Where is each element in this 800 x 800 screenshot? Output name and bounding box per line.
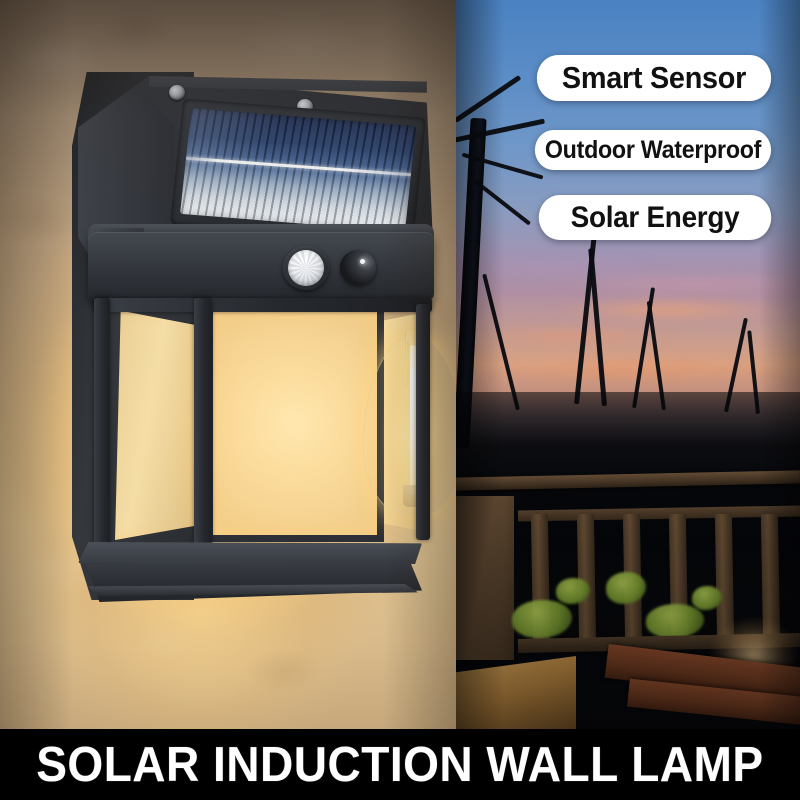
sensor-bar: [88, 232, 434, 300]
lantern-frame-post-middle: [194, 298, 212, 546]
solar-panel-cells: [180, 108, 416, 232]
screw-icon: [169, 85, 185, 100]
solar-wall-lamp: [72, 72, 440, 602]
edison-filament-bulb: [363, 335, 456, 517]
feature-badge-label: Smart Sensor: [562, 60, 746, 96]
solar-panel-glare: [180, 108, 416, 232]
solar-panel: [170, 98, 426, 243]
product-advertisement-image: Smart Sensor Outdoor Waterproof Solar En…: [0, 0, 800, 800]
pir-fresnel-dome: [288, 250, 324, 286]
feature-badge-smart-sensor[interactable]: Smart Sensor: [537, 55, 771, 101]
pir-motion-sensor: [283, 246, 329, 290]
feature-badge-label: Outdoor Waterproof: [545, 136, 761, 165]
glass-panel-left: [100, 306, 194, 540]
feature-badge-label: Solar Energy: [571, 201, 740, 235]
railing-corner-post: [456, 496, 514, 660]
lantern-frame-top: [94, 298, 432, 312]
left-scene-stucco-wall: [0, 0, 456, 729]
glass-panel-front: [206, 304, 384, 542]
feature-badge-solar-energy[interactable]: Solar Energy: [539, 195, 772, 240]
lantern-frame-post-left: [94, 298, 110, 548]
feature-badges: Smart Sensor Outdoor Waterproof Solar En…: [456, 0, 800, 260]
photocell-light-sensor: [340, 250, 376, 285]
filament-lead-wire: [407, 341, 409, 387]
lantern-frame-post-right: [416, 304, 430, 540]
lantern-glass-housing: [94, 298, 432, 548]
bottom-banner: SOLAR INDUCTION WALL LAMP: [0, 729, 800, 800]
banner-title: SOLAR INDUCTION WALL LAMP: [36, 737, 763, 793]
feature-badge-outdoor-waterproof[interactable]: Outdoor Waterproof: [535, 130, 771, 170]
